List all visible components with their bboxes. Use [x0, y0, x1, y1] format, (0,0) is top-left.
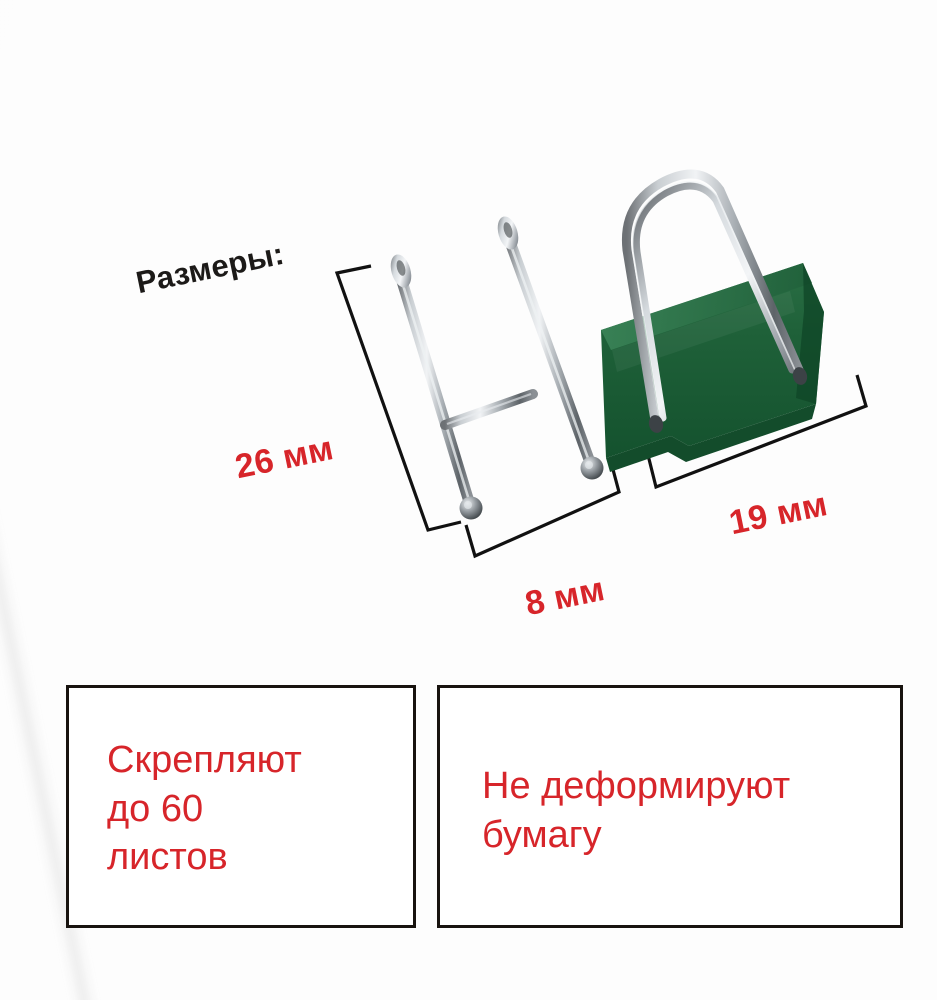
- label-clip-width-19mm: 19 мм: [726, 485, 831, 543]
- feature-box-sheets-text: Скрепляют до 60 листов: [107, 736, 302, 882]
- feature-box-sheets: Скрепляют до 60 листов: [66, 685, 416, 928]
- label-height-26mm: 26 мм: [232, 429, 337, 487]
- feature-box-no-deform: Не деформируют бумагу: [437, 685, 903, 928]
- feature-box-no-deform-text: Не деформируют бумагу: [482, 762, 790, 859]
- infographic-canvas: Размеры: 26 мм 8 мм 19 мм Скрепляют до 6…: [0, 0, 937, 1000]
- dimensions-title: Размеры:: [133, 236, 287, 301]
- label-width-8mm: 8 мм: [522, 570, 608, 624]
